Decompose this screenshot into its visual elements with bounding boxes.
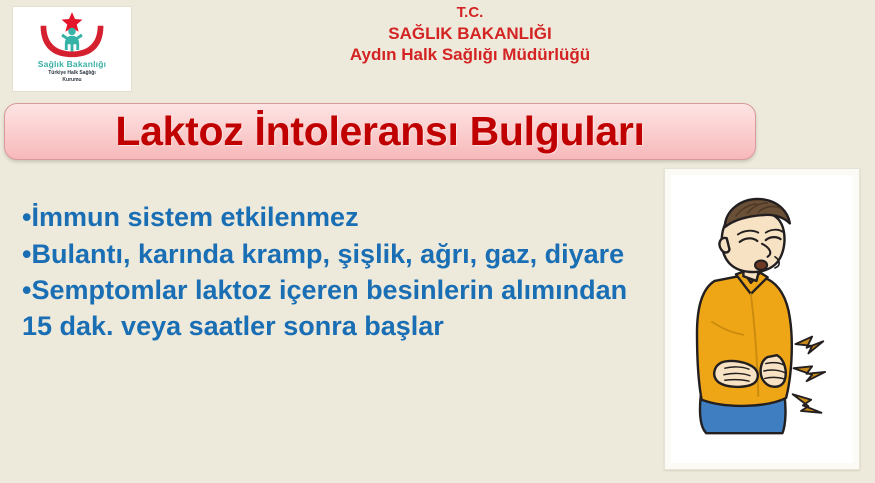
pain-bolt-middle-icon	[794, 366, 826, 381]
page-title: Laktoz İntoleransı Bulguları	[115, 108, 644, 155]
institution-header: T.C. SAĞLIK BAKANLIĞI Aydın Halk Sağlığı…	[250, 4, 690, 65]
ministry-logo-box: Sağlık Bakanlığı Türkiye Halk Sağlığı Ku…	[12, 6, 132, 92]
illustration-frame	[664, 168, 860, 470]
list-item: •Bulantı, karında kramp, şişlik, ağrı, g…	[22, 237, 647, 273]
boy-with-stomach-ache-icon	[671, 175, 853, 463]
symptom-bullet-list: •İmmun sistem etkilenmez •Bulantı, karın…	[22, 200, 647, 346]
header-line-ministry: SAĞLIK BAKANLIĞI	[250, 23, 690, 44]
header-line-directorate: Aydın Halk Sağlığı Müdürlüğü	[250, 44, 690, 65]
pain-bolt-bottom-icon	[793, 394, 822, 413]
list-item-text: İmmun sistem etkilenmez	[31, 202, 358, 232]
list-item: •İmmun sistem etkilenmez	[22, 200, 647, 236]
list-item-text: Bulantı, karında kramp, şişlik, ağrı, ga…	[31, 239, 624, 269]
figure-head-icon	[68, 28, 75, 35]
logo-subtitle-line2: Kurumu	[62, 77, 81, 83]
title-banner: Laktoz İntoleransı Bulguları	[4, 103, 756, 160]
list-item: •Semptomlar laktoz içeren besinlerin alı…	[22, 273, 647, 344]
mouth-open	[755, 261, 767, 270]
pain-bolts-group	[793, 337, 825, 413]
ear-shape	[719, 238, 729, 253]
ministry-logo-mark	[29, 10, 115, 60]
header-line-country: T.C.	[250, 4, 690, 23]
list-item-text: Semptomlar laktoz içeren besinlerin alım…	[22, 275, 627, 341]
logo-subtitle-line1: Türkiye Halk Sağlığı	[48, 70, 96, 76]
logo-title: Sağlık Bakanlığı	[38, 59, 106, 69]
pain-bolt-top-icon	[795, 337, 823, 354]
illustration-canvas	[671, 175, 853, 463]
